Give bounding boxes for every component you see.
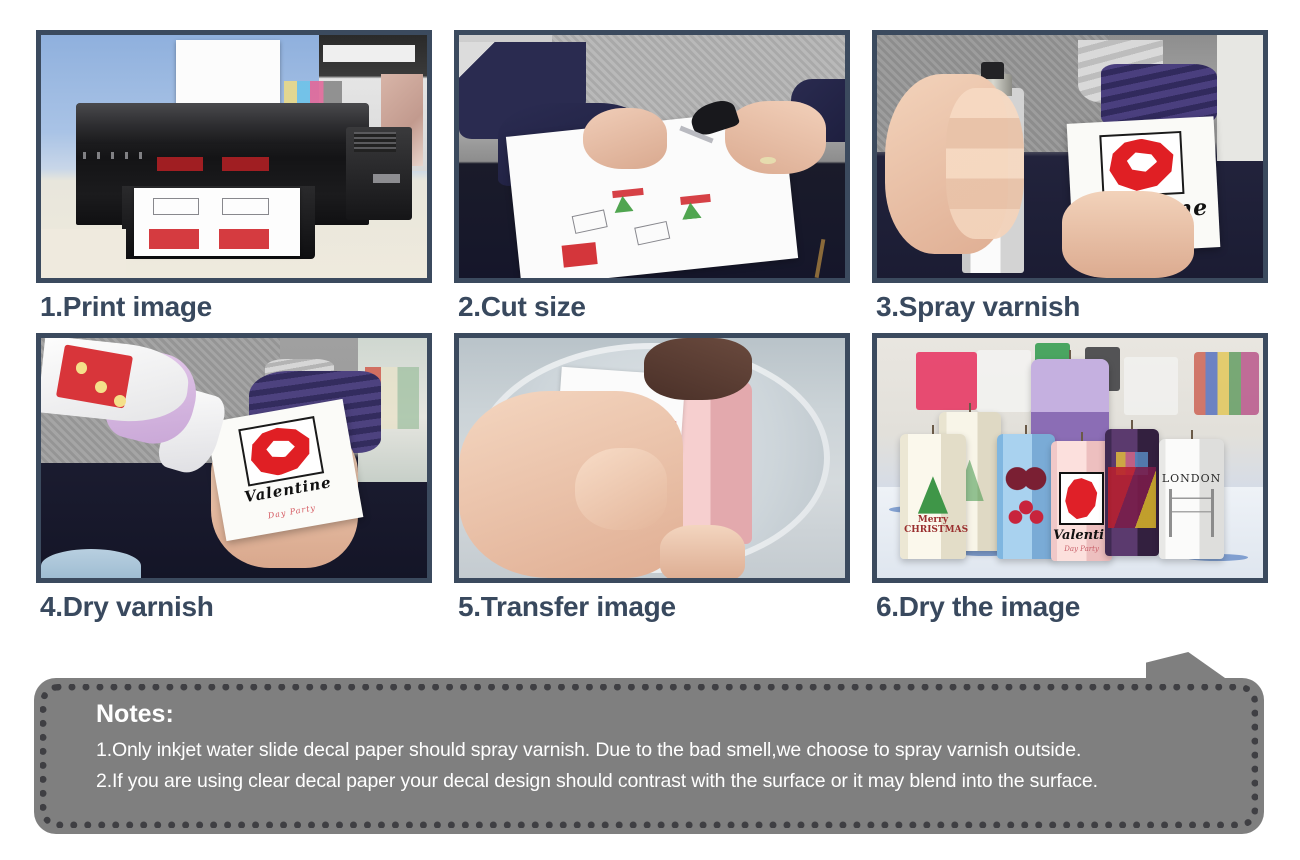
printer-printing-decal-sheets xyxy=(41,35,427,278)
print-preview-rose-right xyxy=(222,157,268,172)
blue-hearts-candle xyxy=(997,434,1055,559)
merry-christmas-text: Merry CHRISTMAS xyxy=(904,516,962,535)
printed-red-text-mid xyxy=(680,195,711,206)
printer-lid xyxy=(76,103,369,144)
card-holding-hand xyxy=(1062,191,1193,278)
step-1-print-image: 1.Print image xyxy=(36,30,432,325)
epson-logo xyxy=(373,174,400,184)
rose-frame xyxy=(1100,131,1185,198)
spray-hand-fingers xyxy=(946,88,1023,239)
spray-nozzle xyxy=(981,62,1004,79)
notes-title: Notes: xyxy=(96,700,1214,729)
background-white-mug-1 xyxy=(977,350,1031,412)
rose-icon xyxy=(1107,137,1178,192)
step-5-transfer-image: Valentine 5.Transfer image xyxy=(454,333,850,625)
hands-cutting-printed-sheet xyxy=(459,35,845,278)
candle-wick xyxy=(969,403,971,412)
background-wall xyxy=(1217,35,1263,161)
step-4-dry-varnish: Valentine Day Party 4.Dry varnish xyxy=(36,333,432,625)
christmas-tree-art xyxy=(918,476,948,513)
left-hand xyxy=(583,108,668,169)
london-candle: LONDON xyxy=(1159,439,1225,559)
candle-wick xyxy=(1131,420,1133,429)
background-spools xyxy=(1194,352,1260,414)
desk-surface xyxy=(41,229,126,278)
step-4-caption: 4.Dry varnish xyxy=(36,583,432,625)
step-3-spray-varnish: Valentine Day Party 3.Spray varnish xyxy=(872,30,1268,325)
step-6-dry-the-image: Merry CHRISTMAS Valentine Day Party xyxy=(872,333,1268,625)
rose-highlight xyxy=(1126,151,1157,172)
printed-sketch-a xyxy=(572,210,608,235)
step-5-caption: 5.Transfer image xyxy=(454,583,850,625)
candle-wick xyxy=(1025,425,1027,434)
poster-title-strip xyxy=(323,45,416,62)
print-preview-rose-left xyxy=(157,157,203,172)
step-6-photo-frame: Merry CHRISTMAS Valentine Day Party xyxy=(872,333,1268,583)
rose-icon xyxy=(245,422,317,480)
printer-buttons xyxy=(83,152,145,159)
printed-red-text-top xyxy=(612,188,643,199)
step-2-caption: 2.Cut size xyxy=(454,283,850,325)
step-3-caption: 3.Spray varnish xyxy=(872,283,1268,325)
tower-bridge-art xyxy=(1169,489,1214,537)
step-4-photo-frame: Valentine Day Party xyxy=(36,333,432,583)
candle-wick xyxy=(1069,350,1071,359)
printed-rose-right xyxy=(219,229,269,248)
tank-vent xyxy=(354,132,396,151)
printed-rose-left xyxy=(149,229,199,248)
printed-sketch-b xyxy=(635,222,671,247)
step-2-cut-size: 2.Cut size xyxy=(454,30,850,325)
valentine-text: Valentine xyxy=(1053,529,1110,542)
happy-life-art xyxy=(1108,467,1156,528)
notes-box: Notes: 1.Only inkjet water slide decal p… xyxy=(34,678,1264,834)
step-1-photo-frame xyxy=(36,30,432,283)
transferring-decal-onto-candle: Valentine xyxy=(459,338,845,578)
rose-highlight xyxy=(265,437,296,460)
printed-christmas-tree-top xyxy=(613,195,634,214)
spraying-varnish-on-decal: Valentine Day Party xyxy=(877,35,1263,278)
sticker-dot-a xyxy=(76,362,88,374)
candle-wick xyxy=(1191,430,1193,439)
rose-icon xyxy=(1065,478,1099,519)
finished-decorated-candles: Merry CHRISTMAS Valentine Day Party xyxy=(877,338,1263,578)
supporting-finger xyxy=(660,525,745,578)
notes-line-1: 1.Only inkjet water slide decal paper sh… xyxy=(96,735,1214,767)
notes-line-2: 2.If you are using clear decal paper you… xyxy=(96,766,1214,798)
hearts-flamingo-art xyxy=(1004,461,1048,541)
step-6-caption: 6.Dry the image xyxy=(872,583,1268,625)
step-2-photo-frame xyxy=(454,30,850,283)
upper-hand xyxy=(644,338,752,400)
valentine-candle: Valentine Day Party xyxy=(1051,441,1113,561)
printed-sketch-right xyxy=(222,198,268,215)
rose-frame xyxy=(238,416,325,486)
sticker-dot-b xyxy=(95,381,107,393)
finger-ring xyxy=(760,157,775,164)
background-pink-mug xyxy=(916,352,978,410)
thumb xyxy=(575,448,668,530)
printed-sketch-left xyxy=(153,198,199,215)
step-5-photo-frame: Valentine xyxy=(454,333,850,583)
day-party-text: Day Party xyxy=(1053,545,1110,553)
blue-bowl xyxy=(41,549,141,578)
happy-life-candle xyxy=(1105,429,1159,556)
candle-wick xyxy=(932,425,934,434)
printed-valentine-rose xyxy=(562,243,597,267)
right-hand xyxy=(725,101,825,174)
london-text: LONDON xyxy=(1161,472,1221,485)
varnished-card: Valentine Day Party xyxy=(205,399,363,541)
rose-frame-art xyxy=(1059,472,1103,525)
christmas-candle-front: Merry CHRISTMAS xyxy=(900,434,966,559)
candle-wick xyxy=(1081,432,1083,441)
printed-christmas-tree-mid xyxy=(681,202,702,221)
step-3-photo-frame: Valentine Day Party xyxy=(872,30,1268,283)
drying-varnish-with-hair-dryer: Valentine Day Party xyxy=(41,338,427,578)
notes-callout: Notes: 1.Only inkjet water slide decal p… xyxy=(34,652,1264,834)
steps-grid: 1.Print image xyxy=(36,30,1260,625)
background-white-mug-2 xyxy=(1124,357,1178,415)
notes-content: Notes: 1.Only inkjet water slide decal p… xyxy=(96,700,1214,798)
instruction-infographic: 1.Print image xyxy=(0,0,1300,860)
step-1-caption: 1.Print image xyxy=(36,283,432,325)
